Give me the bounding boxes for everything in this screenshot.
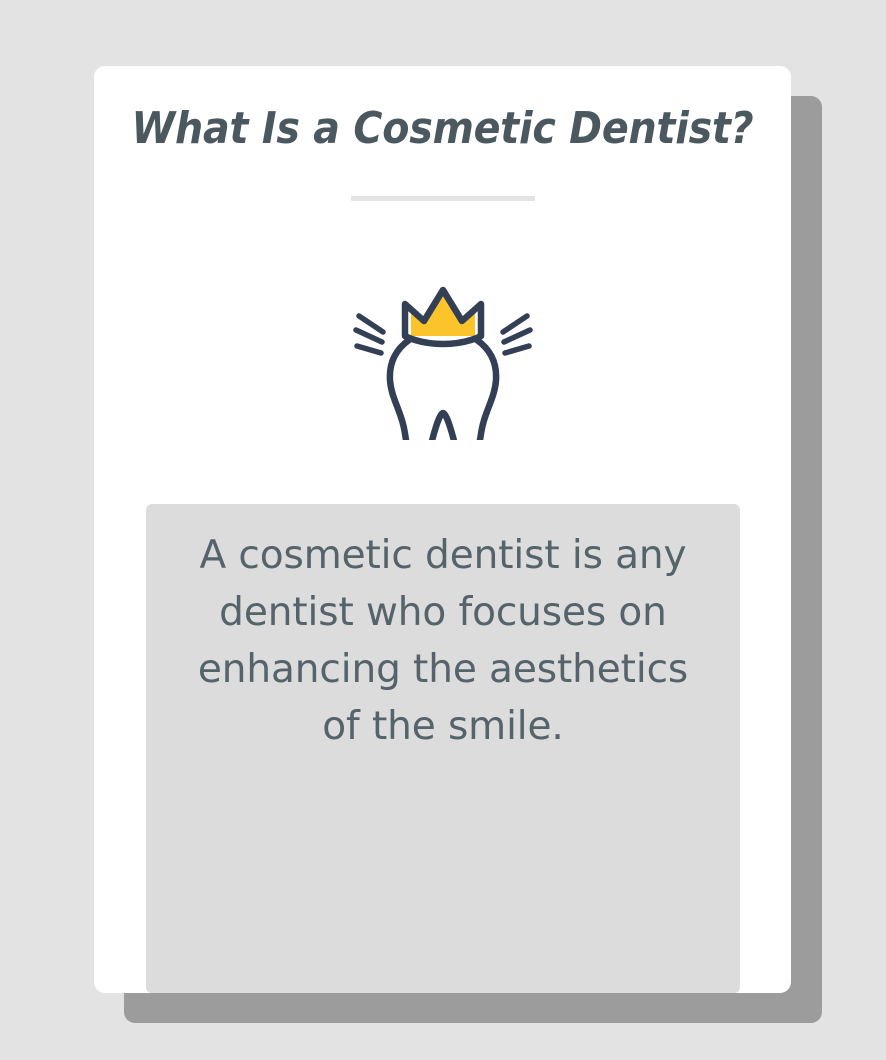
- crowned-tooth-icon: [345, 260, 541, 440]
- sparkle-lines-left: [356, 316, 383, 353]
- tooth-outline: [390, 340, 496, 440]
- content-card: What Is a Cosmetic Dentist?: [94, 66, 791, 993]
- title-divider: [351, 196, 535, 201]
- page-title: What Is a Cosmetic Dentist?: [94, 104, 791, 155]
- body-text-panel: A cosmetic dentist is any dentist who fo…: [146, 504, 740, 993]
- body-text: A cosmetic dentist is any dentist who fo…: [174, 528, 712, 756]
- slide-stage: What Is a Cosmetic Dentist?: [0, 0, 886, 1060]
- sparkle-lines-right: [503, 316, 530, 353]
